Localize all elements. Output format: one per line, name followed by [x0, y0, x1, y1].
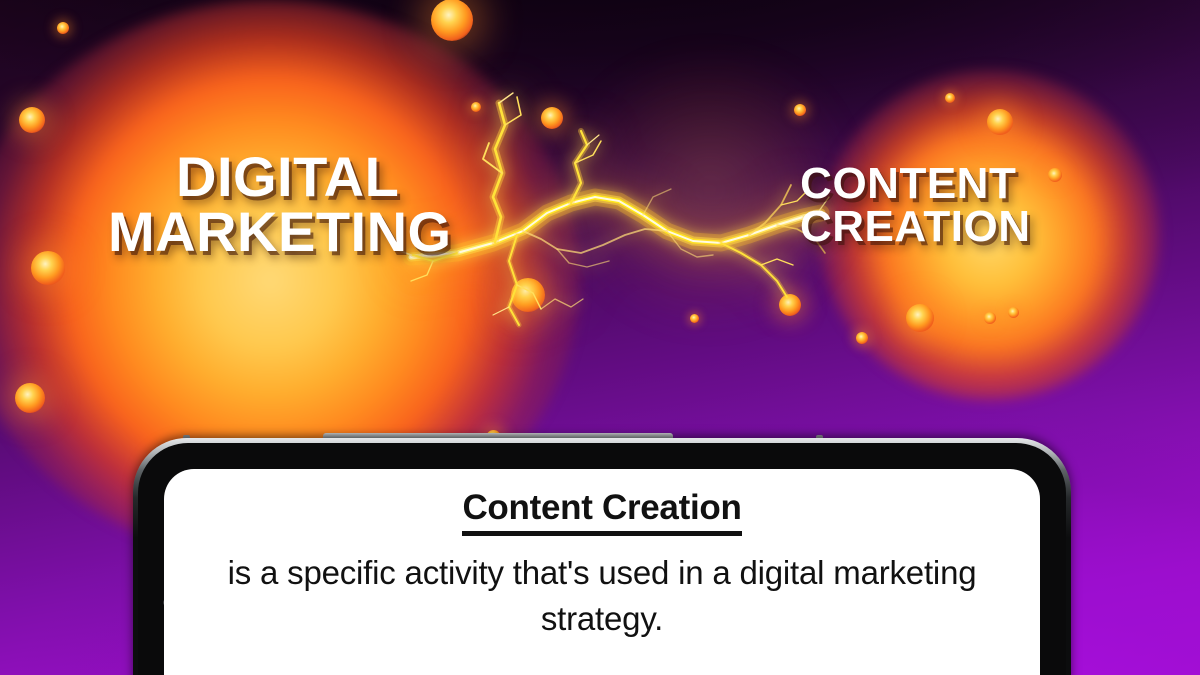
headline-left-line-2: MARKETING: [108, 205, 452, 260]
headline-right-line-2: CREATION: [800, 205, 1031, 248]
headline-content-creation: CONTENT CREATION: [786, 162, 1031, 248]
glow-orb: [984, 312, 996, 324]
glow-orb: [19, 107, 45, 133]
glow-orb: [906, 304, 934, 332]
glow-orb: [57, 22, 69, 34]
glow-orb: [431, 0, 473, 41]
headline-digital-marketing: DIGITAL MARKETING: [108, 150, 452, 260]
glow-orb: [1048, 168, 1062, 182]
glow-orb: [1008, 307, 1019, 318]
slide-canvas: DIGITAL MARKETING CONTENT CREATION Conte…: [0, 0, 1200, 675]
headline-left-line-1: DIGITAL: [176, 150, 452, 205]
lightning-bolt-icon: [405, 85, 825, 330]
screen-content: Content Creation is a specific activity …: [164, 487, 1040, 641]
phone-frame: Content Creation is a specific activity …: [133, 438, 1071, 675]
glow-orb: [15, 383, 45, 413]
phone-bezel: Content Creation is a specific activity …: [138, 443, 1066, 675]
glow-orb: [987, 109, 1013, 135]
screen-heading: Content Creation: [462, 487, 741, 536]
phone-screen[interactable]: Content Creation is a specific activity …: [164, 469, 1040, 675]
screen-body-text: is a specific activity that's used in a …: [164, 550, 1040, 641]
glow-orb: [856, 332, 868, 344]
glow-orb: [31, 251, 65, 285]
headline-right-line-1: CONTENT: [786, 162, 1031, 205]
glow-orb: [945, 93, 955, 103]
phone-mockup: Content Creation is a specific activity …: [133, 438, 1071, 675]
